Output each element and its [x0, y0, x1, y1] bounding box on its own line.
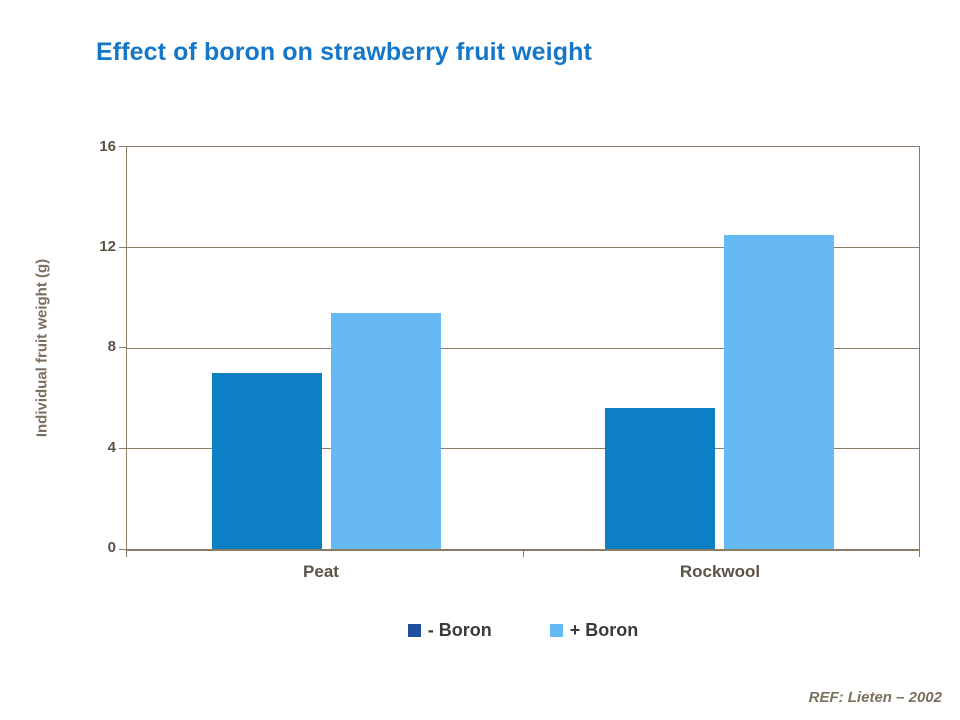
slide-canvas: Effect of boron on strawberry fruit weig…	[0, 0, 960, 720]
x-category-label-rockwool: Rockwool	[625, 562, 815, 582]
y-tick-mark-4	[119, 448, 126, 449]
y-tick-mark-16	[119, 146, 126, 147]
x-tick-mark-mid	[523, 550, 524, 557]
y-tick-label-0: 0	[76, 539, 116, 556]
page-title: Effect of boron on strawberry fruit weig…	[96, 38, 592, 67]
y-axis-title: Individual fruit weight (g)	[28, 143, 56, 553]
x-tick-mark-end	[919, 550, 920, 557]
chart-legend: - Boron + Boron	[126, 615, 920, 645]
bar-peat-plus-boron	[331, 313, 441, 549]
y-axis-tick-labels: 16 12 8 4 0	[70, 0, 116, 720]
legend-item-minus-boron[interactable]: - Boron	[408, 620, 492, 641]
legend-item-plus-boron[interactable]: + Boron	[550, 620, 639, 641]
x-category-label-peat: Peat	[226, 562, 416, 582]
legend-label-plus-boron: + Boron	[570, 620, 639, 641]
y-tick-label-12: 12	[76, 238, 116, 255]
legend-swatch-icon-minus-boron	[408, 624, 421, 637]
y-tick-mark-0	[119, 549, 126, 550]
bar-rockwool-plus-boron	[724, 235, 834, 549]
x-tick-mark-start	[126, 550, 127, 557]
plot-area	[126, 146, 920, 550]
y-tick-label-4: 4	[76, 439, 116, 456]
y-axis-title-label: Individual fruit weight (g)	[34, 259, 51, 437]
y-tick-mark-12	[119, 247, 126, 248]
y-tick-mark-8	[119, 347, 126, 348]
y-tick-label-8: 8	[76, 338, 116, 355]
legend-label-minus-boron: - Boron	[428, 620, 492, 641]
legend-swatch-icon-plus-boron	[550, 624, 563, 637]
y-tick-label-16: 16	[76, 138, 116, 155]
bar-peat-minus-boron	[212, 373, 322, 549]
reference-note: REF: Lieten – 2002	[809, 689, 942, 706]
bar-rockwool-minus-boron	[605, 408, 715, 549]
